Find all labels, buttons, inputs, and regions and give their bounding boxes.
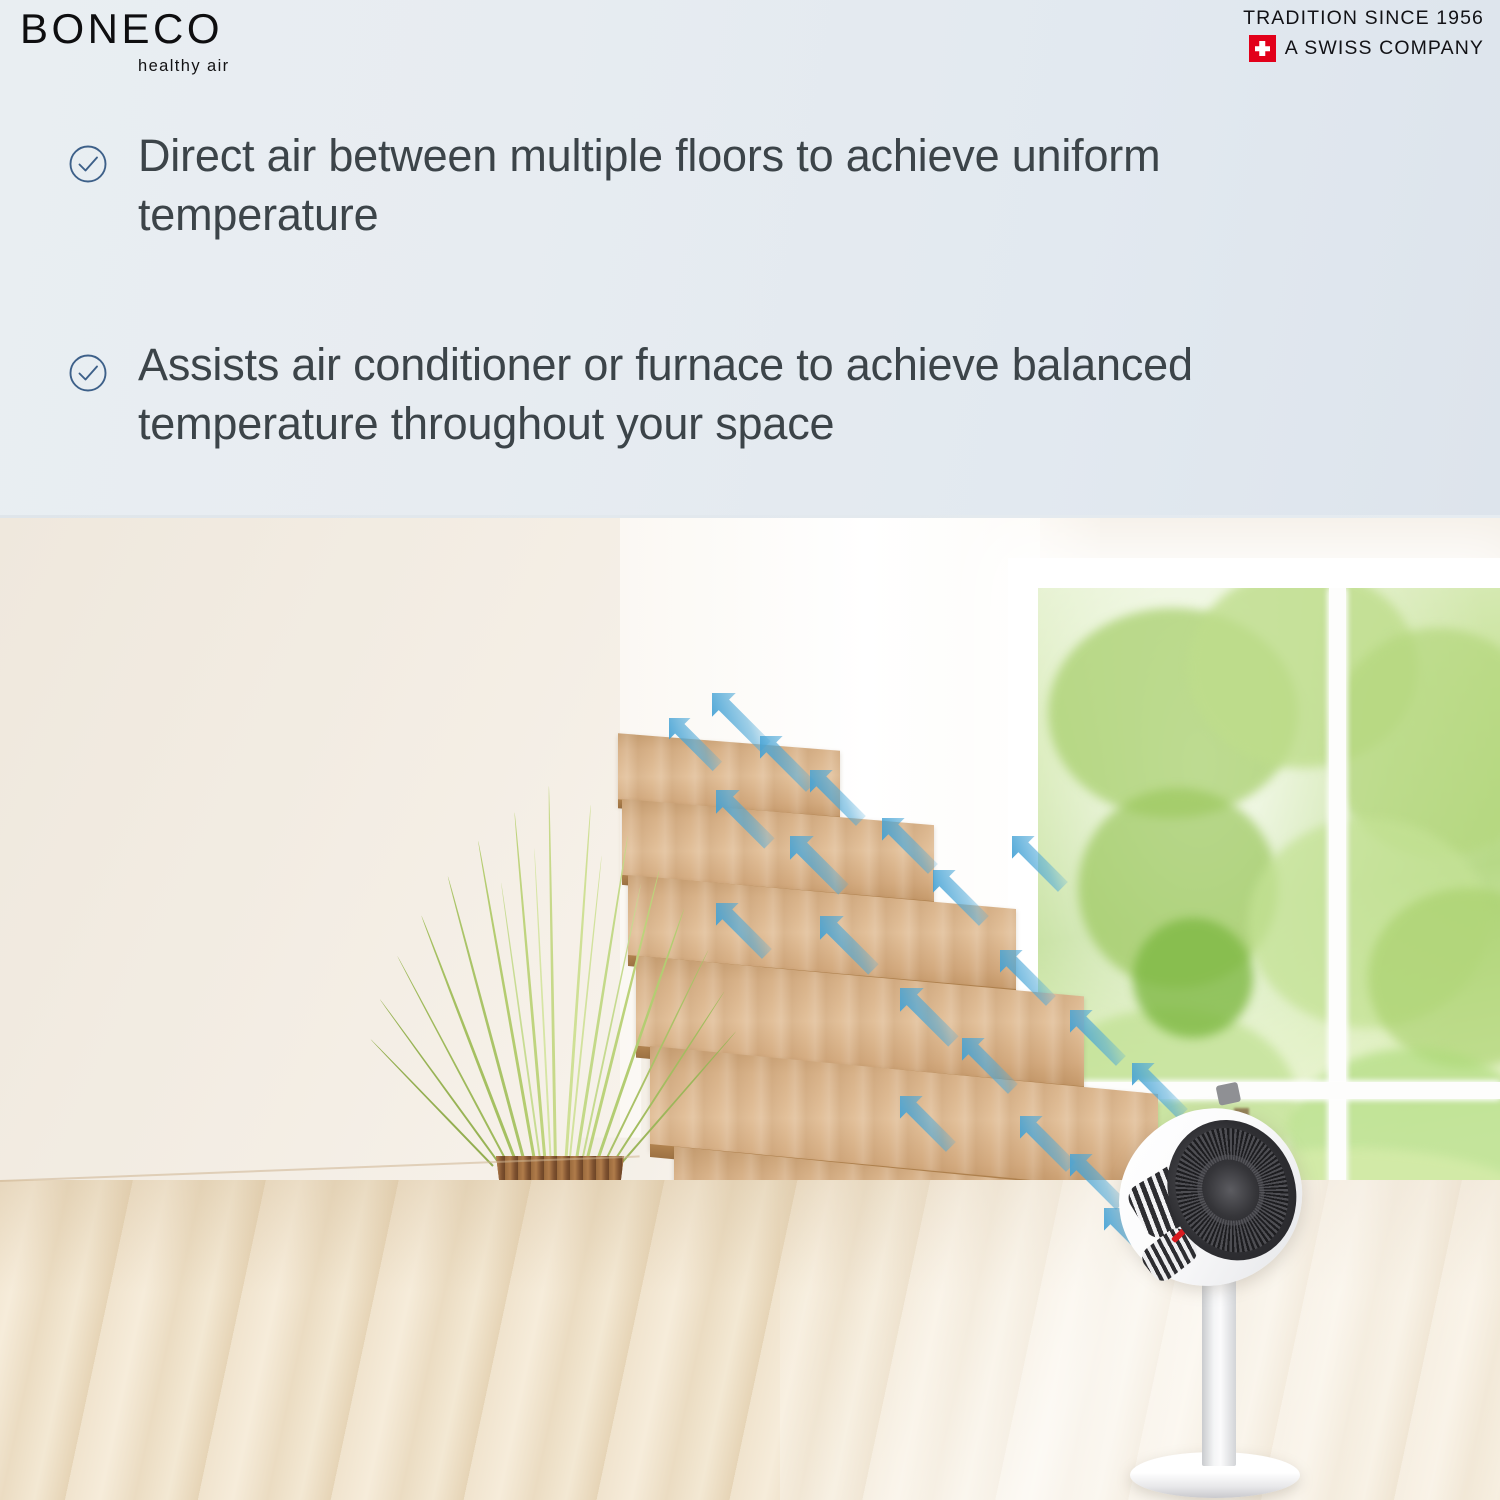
airflow-arrow (704, 778, 781, 855)
airflow-arrow (705, 892, 779, 966)
feature-bullet-text: Direct air between multiple floors to ac… (138, 126, 1390, 245)
swiss-company-line: A SWISS COMPANY (1243, 35, 1484, 62)
fan-hinge-tab (1216, 1082, 1242, 1106)
swiss-flag-icon (1249, 35, 1276, 62)
air-shower-fan (1118, 1110, 1338, 1500)
fan-head (1090, 1080, 1330, 1315)
feature-header-panel: BONECO healthy air TRADITION SINCE 1956 … (0, 0, 1500, 518)
airflow-arrow (989, 939, 1063, 1013)
airflow-arrow (888, 976, 965, 1053)
feature-bullet-item: Direct air between multiple floors to ac… (68, 126, 1390, 245)
feature-bullet-text: Assists air conditioner or furnace to ac… (138, 335, 1390, 454)
airflow-arrow (658, 707, 728, 777)
airflow-arrow (922, 859, 996, 933)
feature-bullet-item: Assists air conditioner or furnace to ac… (68, 335, 1390, 454)
check-circle-icon (68, 353, 108, 393)
product-feature-graphic: BONECO healthy air TRADITION SINCE 1956 … (0, 0, 1500, 1500)
brand-logo: BONECO healthy air (20, 8, 320, 76)
airflow-arrow (951, 1027, 1025, 1101)
airflow-arrow (889, 1085, 963, 1159)
swiss-origin-badge: TRADITION SINCE 1956 A SWISS COMPANY (1243, 7, 1484, 62)
airflow-arrow (778, 824, 855, 901)
tradition-since-text: TRADITION SINCE 1956 (1243, 7, 1484, 30)
airflow-arrow (871, 807, 945, 881)
brand-tagline: healthy air (138, 57, 320, 76)
airflow-arrow (808, 904, 885, 981)
airflow-arrow (1059, 999, 1133, 1073)
airflow-arrow (1001, 825, 1075, 899)
feature-bullet-list: Direct air between multiple floors to ac… (68, 126, 1390, 454)
fan-pole (1202, 1266, 1236, 1466)
brand-wordmark: BONECO (20, 8, 320, 50)
room-photo-scene (0, 518, 1500, 1500)
airflow-arrow (799, 759, 873, 833)
swiss-company-text: A SWISS COMPANY (1285, 37, 1484, 60)
check-circle-icon (68, 144, 108, 184)
